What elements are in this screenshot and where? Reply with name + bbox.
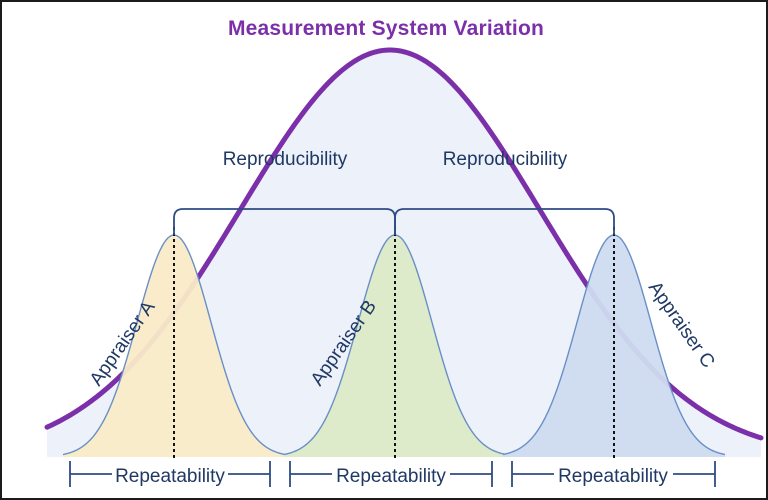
reproducibility-left-label: Reproducibility	[223, 149, 348, 170]
repeatability-label-b: Repeatability	[336, 466, 446, 487]
reproducibility-right-label: Reproducibility	[443, 149, 568, 170]
chart-canvas: Measurement System Variation Reproducibi…	[2, 2, 768, 500]
repeatability-label-a: Repeatability	[115, 466, 225, 487]
measurement-system-variation-figure: Measurement System Variation Reproducibi…	[0, 0, 768, 500]
chart-title: Measurement System Variation	[228, 17, 544, 40]
repeatability-label-c: Repeatability	[558, 466, 668, 487]
